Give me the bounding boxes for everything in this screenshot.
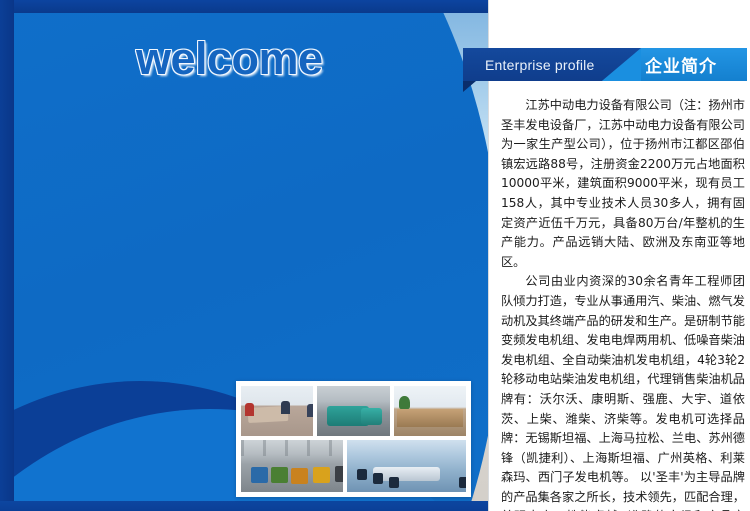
- ribbon-chinese-segment: 企业简介: [641, 48, 747, 81]
- left-border-bar: [0, 0, 14, 511]
- reception-office-photo: [394, 386, 466, 436]
- generator-workshop-photo: [317, 386, 389, 436]
- collage-bottom-row: [241, 440, 466, 492]
- ribbon-english-segment: Enterprise profile: [463, 48, 641, 81]
- ribbon-bar: Enterprise profile 企业简介: [463, 48, 747, 81]
- profile-paragraph-1: 江苏中动电力设备有限公司（注：扬州市圣丰发电设备厂，江苏中动电力设备有限公司为一…: [501, 96, 745, 272]
- conference-room-photo: [347, 440, 466, 492]
- section-header-ribbon: Enterprise profile 企业简介: [463, 48, 747, 81]
- collage-top-row: [241, 386, 466, 436]
- profile-body-text: 江苏中动电力设备有限公司（注：扬州市圣丰发电设备厂，江苏中动电力设备有限公司为一…: [501, 96, 745, 511]
- welcome-heading: welcome: [136, 33, 323, 85]
- profile-paragraph-2: 公司由业内资深的30余名青年工程师团队倾力打造，专业从事通用汽、柴油、燃气发动机…: [501, 272, 745, 511]
- ribbon-fold-corner: [463, 81, 476, 92]
- office-meeting-photo: [241, 386, 313, 436]
- hero-section: 中动电力 江苏中动电力设备有限公司: [0, 0, 488, 511]
- top-border-bar: [0, 0, 488, 13]
- company-profile-banner: 中动电力 江苏中动电力设备有限公司: [0, 0, 750, 511]
- bottom-border-bar: [0, 501, 488, 511]
- photo-collage: [236, 381, 471, 497]
- factory-floor-photo: [241, 440, 343, 492]
- profile-panel: Enterprise profile 企业简介 江苏中动电力设备有限公司（注：扬…: [488, 0, 750, 511]
- ribbon-chinese-label: 企业简介: [645, 52, 717, 77]
- ribbon-english-label: Enterprise profile: [485, 57, 594, 73]
